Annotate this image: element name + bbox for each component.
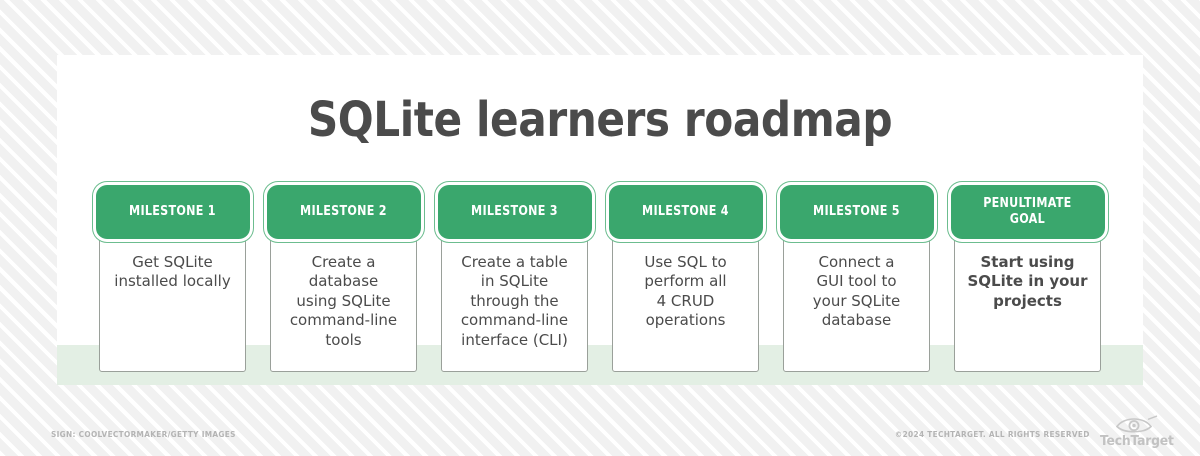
milestone-description: Connect a GUI tool to your SQLite databa… bbox=[783, 253, 930, 331]
milestone-column: MILESTONE 1 Get SQLite installed locally bbox=[99, 185, 246, 372]
milestone-description: Use SQL to perform all 4 CRUD operations bbox=[612, 253, 759, 331]
milestone-column: MILESTONE 3 Create a table in SQLite thr… bbox=[441, 185, 588, 372]
milestone-badge-5[interactable]: MILESTONE 5 bbox=[780, 185, 934, 239]
milestone-badge-3[interactable]: MILESTONE 3 bbox=[438, 185, 592, 239]
milestone-column: MILESTONE 4 Use SQL to perform all 4 CRU… bbox=[612, 185, 759, 372]
page-title: SQLite learners roadmap bbox=[122, 92, 1078, 148]
milestone-badge-penultimate-goal[interactable]: PENULTIMATE GOAL bbox=[951, 185, 1105, 239]
eye-icon bbox=[1114, 414, 1160, 433]
milestone-badge-4[interactable]: MILESTONE 4 bbox=[609, 185, 763, 239]
milestone-description: Create a database using SQLite command-l… bbox=[270, 253, 417, 350]
milestone-badge-2[interactable]: MILESTONE 2 bbox=[267, 185, 421, 239]
milestone-description: Start using SQLite in your projects bbox=[954, 253, 1101, 311]
milestone-badge-label: MILESTONE 1 bbox=[129, 204, 216, 220]
milestone-column: PENULTIMATE GOAL Start using SQLite in y… bbox=[954, 185, 1101, 372]
milestone-description: Create a table in SQLite through the com… bbox=[441, 253, 588, 350]
milestone-row: MILESTONE 1 Get SQLite installed locally… bbox=[99, 185, 1101, 380]
image-credit: SIGN: COOLVECTORMAKER/GETTY IMAGES bbox=[51, 430, 236, 439]
milestone-column: MILESTONE 5 Connect a GUI tool to your S… bbox=[783, 185, 930, 372]
milestone-badge-1[interactable]: MILESTONE 1 bbox=[96, 185, 250, 239]
copyright-notice: ©2024 TECHTARGET. ALL RIGHTS RESERVED bbox=[895, 430, 1090, 439]
milestone-badge-label: MILESTONE 4 bbox=[642, 204, 729, 220]
infographic-card: SQLite learners roadmap MILESTONE 1 Get … bbox=[57, 55, 1143, 385]
milestone-badge-label: MILESTONE 3 bbox=[471, 204, 558, 220]
milestone-badge-label: MILESTONE 2 bbox=[300, 204, 387, 220]
milestone-column: MILESTONE 2 Create a database using SQLi… bbox=[270, 185, 417, 372]
milestone-badge-label: PENULTIMATE GOAL bbox=[983, 196, 1071, 228]
milestone-description: Get SQLite installed locally bbox=[99, 253, 246, 292]
techtarget-wordmark: TechTarget bbox=[1100, 434, 1174, 449]
milestone-badge-label: MILESTONE 5 bbox=[813, 204, 900, 220]
techtarget-logo: TechTarget bbox=[1096, 414, 1178, 450]
